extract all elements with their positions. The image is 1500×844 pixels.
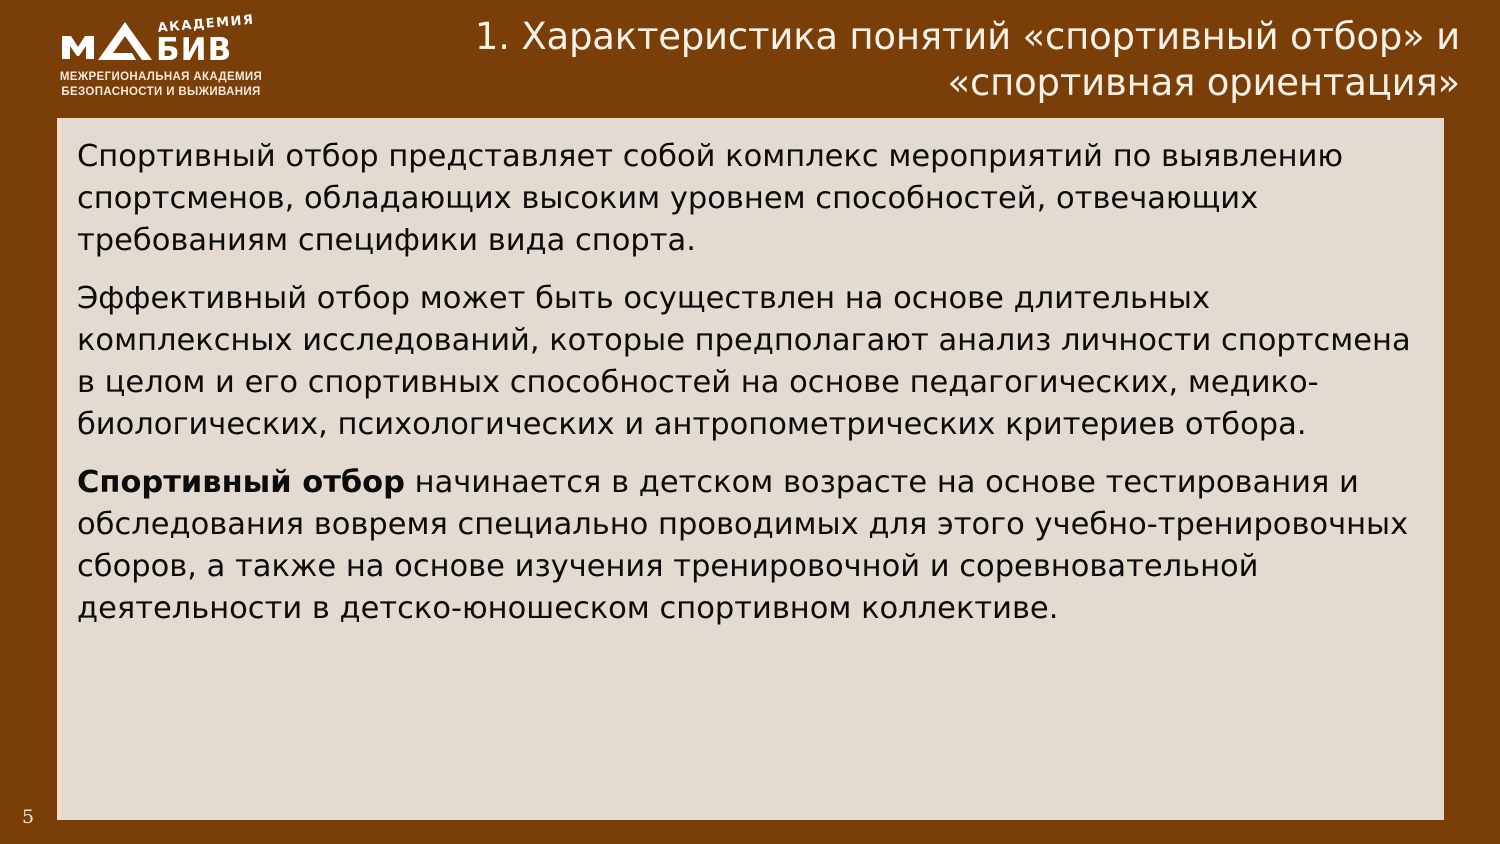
body-paragraph-3: Спортивный отбор начинается в детском во… — [77, 462, 1420, 630]
logo-subtitle-line2: БЕЗОПАСНОСТИ И ВЫЖИВАНИЯ — [46, 85, 276, 100]
logo-subtitle-line1: МЕЖРЕГИОНАЛЬНАЯ АКАДЕМИЯ — [46, 70, 276, 85]
logo-subtitle: МЕЖРЕГИОНАЛЬНАЯ АКАДЕМИЯ БЕЗОПАСНОСТИ И … — [46, 70, 276, 100]
presentation-slide: АКАДЕМИЯ БИВ МЕЖРЕГИОНАЛЬНАЯ АКАДЕМИЯ БЕ… — [0, 0, 1500, 844]
slide-title: 1. Характеристика понятий «спортивный от… — [300, 14, 1460, 106]
organization-logo: АКАДЕМИЯ БИВ МЕЖРЕГИОНАЛЬНАЯ АКАДЕМИЯ БЕ… — [46, 10, 276, 106]
logo-mark-icon: АКАДЕМИЯ БИВ — [46, 10, 276, 68]
slide-title-line2: «спортивная ориентация» — [300, 60, 1460, 106]
svg-text:БИВ: БИВ — [156, 32, 232, 68]
content-panel: Спортивный отбор представляет собой комп… — [57, 118, 1444, 820]
slide-number: 5 — [22, 806, 34, 828]
body-text: Спортивный отбор представляет собой комп… — [61, 118, 1444, 630]
body-paragraph-1: Спортивный отбор представляет собой комп… — [77, 136, 1420, 262]
body-paragraph-2: Эффективный отбор может быть осуществлен… — [77, 278, 1420, 446]
slide-title-line1: 1. Характеристика понятий «спортивный от… — [300, 14, 1460, 60]
body-paragraph-3-bold-lead: Спортивный отбор — [77, 465, 405, 500]
